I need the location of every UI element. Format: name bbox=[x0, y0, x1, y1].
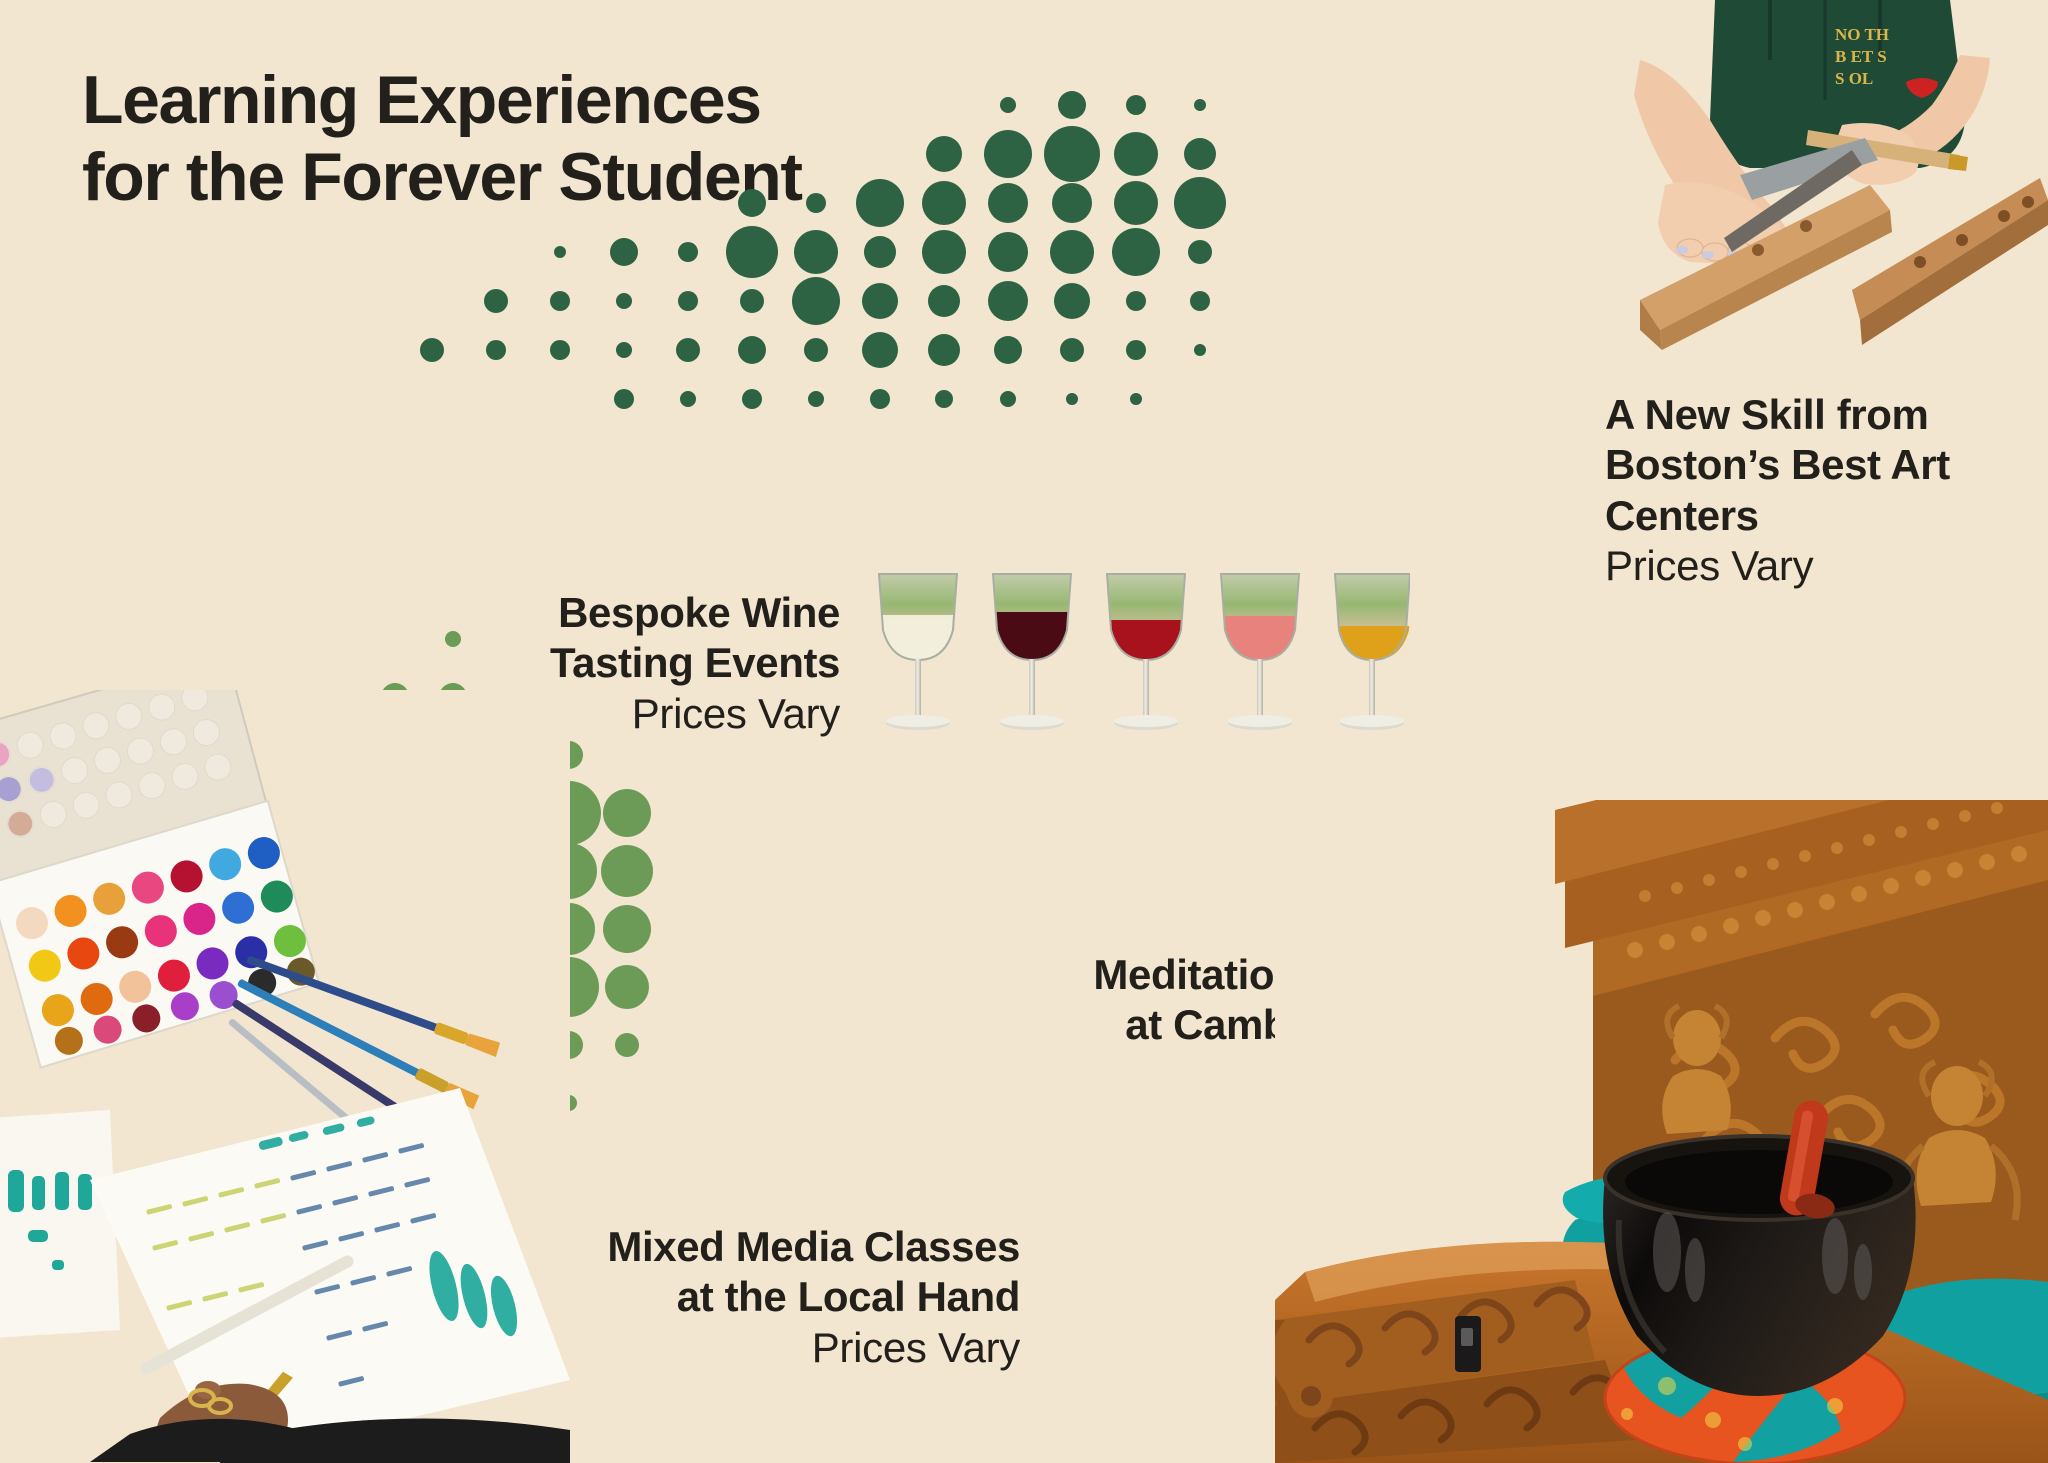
halftone-dot bbox=[1184, 138, 1216, 170]
halftone-dot bbox=[742, 389, 762, 409]
halftone-dot bbox=[1112, 228, 1160, 276]
halftone-dot bbox=[1126, 95, 1146, 115]
halftone-dot bbox=[740, 289, 764, 313]
caption-mixed-media: Mixed Media Classes at the Local Hand Pr… bbox=[300, 1222, 1020, 1373]
halftone-dot bbox=[804, 338, 828, 362]
halftone-dot bbox=[988, 183, 1028, 223]
halftone-dot bbox=[988, 281, 1028, 321]
caption-mixed-media-title: Mixed Media Classes at the Local Hand bbox=[300, 1222, 1020, 1323]
halftone-dot bbox=[678, 242, 698, 262]
halftone-dot bbox=[420, 338, 444, 362]
paper-left bbox=[0, 1110, 120, 1340]
singing-bowl-photo bbox=[1275, 800, 2048, 1463]
halftone-dot bbox=[678, 291, 698, 311]
halftone-dot bbox=[1066, 393, 1078, 405]
halftone-dot bbox=[484, 289, 508, 313]
halftone-dot bbox=[616, 293, 632, 309]
halftone-dot bbox=[870, 389, 890, 409]
wine-glasses-illustration bbox=[865, 560, 1410, 790]
halftone-dot bbox=[603, 905, 651, 953]
halftone-dot bbox=[738, 189, 766, 217]
halftone-dot bbox=[550, 291, 570, 311]
apron-text-line2: B ET S bbox=[1835, 47, 1887, 66]
halftone-dot bbox=[935, 390, 953, 408]
halftone-dot bbox=[615, 1033, 639, 1057]
halftone-dot bbox=[1190, 291, 1210, 311]
halftone-dot bbox=[1060, 338, 1084, 362]
wine-glasses-photo bbox=[865, 560, 1410, 790]
halftone-dot bbox=[1050, 230, 1094, 274]
halftone-dot bbox=[794, 230, 838, 274]
halftone-dot bbox=[926, 136, 962, 172]
apron-text-line1: NO TH bbox=[1835, 25, 1889, 44]
halftone-dot bbox=[726, 226, 778, 278]
caption-art-centers-price: Prices Vary bbox=[1605, 541, 2025, 591]
halftone-dot bbox=[1126, 291, 1146, 311]
halftone-dot bbox=[486, 340, 506, 360]
apron-text-line3: S OL bbox=[1835, 69, 1873, 88]
woodworking-photo: NO TH B ET S S OL bbox=[1620, 0, 2048, 350]
halftone-dot bbox=[994, 336, 1022, 364]
halftone-dot bbox=[605, 965, 649, 1009]
halftone-dot-cluster-top bbox=[400, 80, 1240, 420]
halftone-dot bbox=[984, 130, 1032, 178]
halftone-dot bbox=[1188, 240, 1212, 264]
caption-wine-title: Bespoke Wine Tasting Events bbox=[230, 588, 840, 689]
halftone-dot bbox=[1126, 340, 1146, 360]
halftone-dot bbox=[610, 238, 638, 266]
halftone-dot bbox=[1058, 91, 1086, 119]
halftone-dot bbox=[806, 193, 826, 213]
halftone-dot bbox=[864, 236, 896, 268]
halftone-dot bbox=[1054, 283, 1090, 319]
halftone-dot bbox=[988, 232, 1028, 272]
halftone-dot bbox=[1114, 181, 1158, 225]
halftone-dot bbox=[1194, 344, 1206, 356]
halftone-dot bbox=[928, 285, 960, 317]
halftone-dot bbox=[1194, 99, 1206, 111]
halftone-dot bbox=[862, 283, 898, 319]
halftone-dot bbox=[603, 789, 651, 837]
halftone-dot bbox=[1052, 183, 1092, 223]
halftone-dot bbox=[792, 277, 840, 325]
caption-mixed-media-price: Prices Vary bbox=[300, 1323, 1020, 1373]
halftone-dot bbox=[922, 181, 966, 225]
halftone-dot bbox=[1000, 97, 1016, 113]
woodworking-illustration: NO TH B ET S S OL bbox=[1620, 0, 2048, 350]
caption-art-centers-title: A New Skill from Boston’s Best Art Cente… bbox=[1605, 390, 2025, 541]
singing-bowl-illustration bbox=[1275, 800, 2048, 1463]
halftone-dot bbox=[922, 230, 966, 274]
halftone-dot bbox=[601, 845, 653, 897]
halftone-dot bbox=[680, 391, 696, 407]
halftone-dot bbox=[808, 391, 824, 407]
halftone-dot bbox=[1114, 132, 1158, 176]
caption-art-centers: A New Skill from Boston’s Best Art Cente… bbox=[1605, 390, 2025, 592]
halftone-dot bbox=[554, 246, 566, 258]
halftone-dot bbox=[856, 179, 904, 227]
halftone-dot bbox=[1000, 391, 1016, 407]
halftone-dot bbox=[738, 336, 766, 364]
halftone-dot bbox=[676, 338, 700, 362]
halftone-dot bbox=[1044, 126, 1100, 182]
halftone-dot bbox=[616, 342, 632, 358]
halftone-dot bbox=[550, 340, 570, 360]
halftone-dot bbox=[614, 389, 634, 409]
halftone-dot bbox=[928, 334, 960, 366]
halftone-dot bbox=[1174, 177, 1226, 229]
halftone-dot bbox=[1130, 393, 1142, 405]
halftone-dot bbox=[862, 332, 898, 368]
